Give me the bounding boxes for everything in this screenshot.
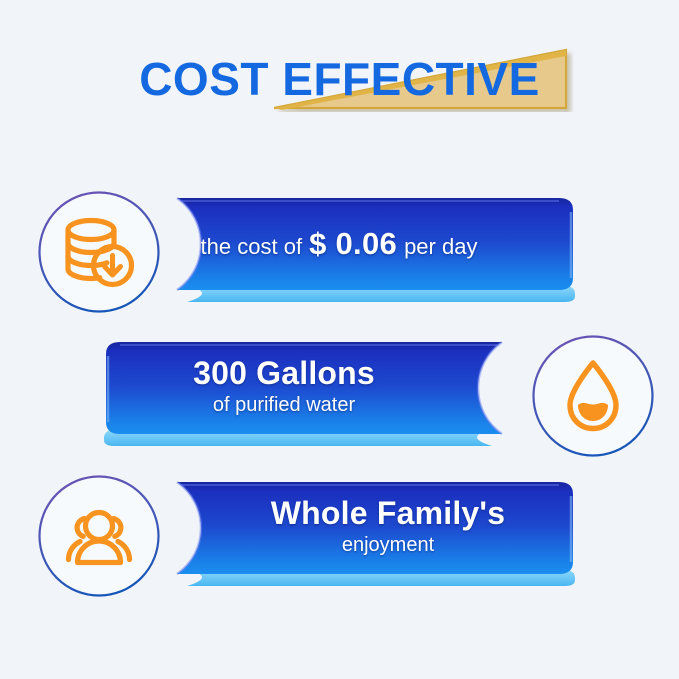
cost-suffix: per day [404, 235, 477, 259]
cost-amount: $ 0.06 [309, 227, 397, 260]
people-group-icon [60, 497, 138, 575]
feature-row-purified-water: 300 Gallons of purified water [0, 330, 679, 460]
feature-banner: Whole Family's enjoyment [157, 478, 577, 590]
feature-row-cost-per-day: the cost of $ 0.06 per day [0, 186, 679, 316]
banner-headline: 300 Gallons [193, 356, 431, 391]
feature-badge [37, 190, 161, 314]
cost-prefix: the cost of [201, 235, 303, 259]
banner-text-group: the cost of $ 0.06 per day [157, 194, 577, 294]
feature-badge [37, 474, 161, 598]
page-header: COST EFFECTIVE [0, 44, 679, 114]
cost-line: the cost of $ 0.06 per day [201, 227, 534, 260]
feature-badge [531, 334, 655, 458]
coin-stack-download-icon [60, 213, 138, 291]
feature-banner: the cost of $ 0.06 per day [157, 194, 577, 306]
feature-banner: 300 Gallons of purified water [102, 338, 522, 450]
water-drop-icon [554, 357, 632, 435]
banner-headline: Whole Family's [229, 496, 505, 531]
banner-text-group: Whole Family's enjoyment [157, 478, 577, 578]
banner-text-group: 300 Gallons of purified water [102, 338, 522, 438]
banner-subline: of purified water [213, 390, 411, 420]
banner-subline: enjoyment [300, 530, 434, 560]
feature-row-family-enjoyment: Whole Family's enjoyment [0, 470, 679, 600]
page-title: COST EFFECTIVE [0, 44, 679, 114]
